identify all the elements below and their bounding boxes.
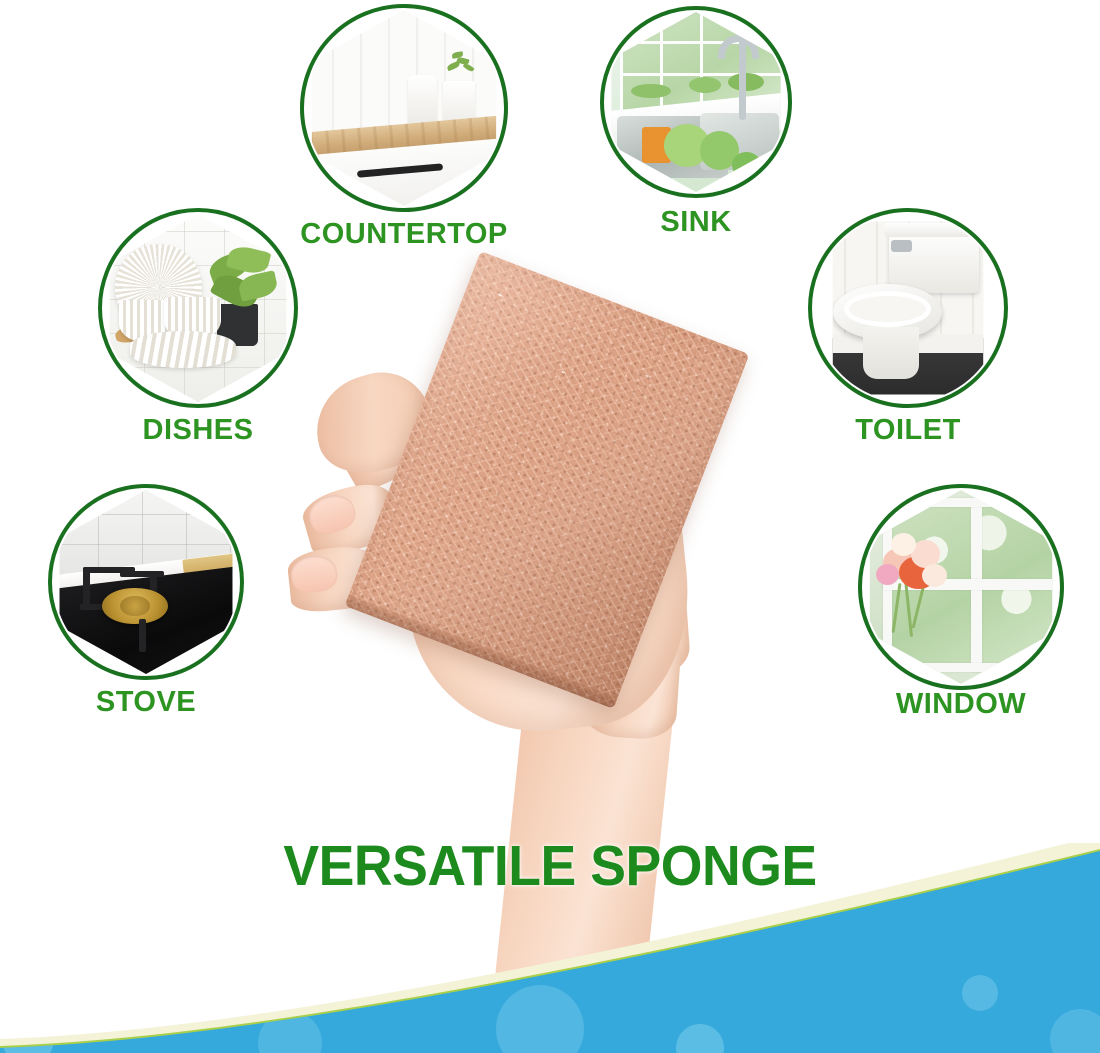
badge-stove: STOVE: [48, 484, 244, 738]
badge-countertop: COUNTERTOP: [300, 4, 508, 264]
badge-label: STOVE: [96, 686, 196, 719]
brand-banner: ®: [0, 843, 1100, 1053]
badge-label: WINDOW: [896, 688, 1026, 721]
badge-label: TOILET: [855, 414, 961, 447]
badge-label: SINK: [660, 206, 731, 239]
window-photo: [864, 490, 1058, 684]
badge-ring: [600, 6, 792, 198]
sink-photo: [606, 12, 786, 192]
badge-ring: [300, 4, 508, 212]
banner-wave-shape: [0, 843, 1100, 1053]
badge-ring: [48, 484, 244, 680]
badge-ring: [858, 484, 1064, 690]
badge-label: COUNTERTOP: [300, 218, 507, 251]
product-infographic: COUNTERTOP: [0, 0, 1100, 1053]
stove-photo: [54, 490, 238, 674]
badge-sink: SINK: [600, 6, 792, 262]
badge-label: DISHES: [143, 414, 254, 447]
badge-window: WINDOW: [858, 484, 1064, 742]
countertop-photo: [306, 10, 502, 206]
